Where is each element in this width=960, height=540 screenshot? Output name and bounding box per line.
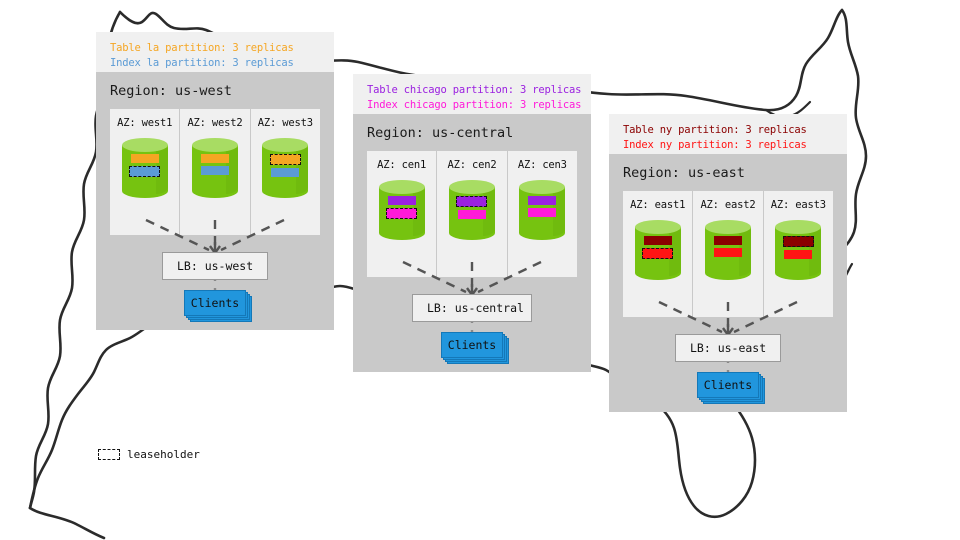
clients-group-us-west[interactable]: Clients <box>184 290 246 316</box>
db-cylinder-cen1[interactable] <box>379 180 425 240</box>
replica-index-leaseholder <box>386 208 417 219</box>
region-box-us-west: Region: us-west AZ: west1 <box>96 72 334 330</box>
az-label-west3: AZ: west3 <box>258 117 313 129</box>
lb-box-us-east[interactable]: LB: us-east <box>675 334 781 362</box>
az-panel-us-west: AZ: west1 AZ: west2 <box>110 109 320 235</box>
partition-line-table: Table la partition: 3 replicas <box>110 41 320 56</box>
replica-table <box>388 196 416 205</box>
cylinder-top <box>449 180 495 194</box>
replica-table-leaseholder <box>456 196 487 207</box>
replica-index <box>271 168 299 177</box>
cylinder-top <box>379 180 425 194</box>
replica-index <box>714 248 742 257</box>
cylinder-top <box>775 220 821 234</box>
partition-line-table: Table ny partition: 3 replicas <box>623 123 833 138</box>
replica-stack-east1 <box>635 236 681 259</box>
replica-index <box>201 166 229 175</box>
replica-stack-cen3 <box>519 196 565 217</box>
cylinder-top <box>122 138 168 152</box>
replica-table-leaseholder <box>270 154 301 165</box>
partition-line-index: Index ny partition: 3 replicas <box>623 138 833 153</box>
replica-table <box>131 154 159 163</box>
clients-stack[interactable]: Clients <box>184 290 246 316</box>
region-title-us-west: Region: us-west <box>96 72 334 109</box>
legend-leaseholder: leaseholder <box>98 448 200 461</box>
region-box-us-east: Region: us-east AZ: east1 <box>609 154 847 412</box>
replica-table <box>528 196 556 205</box>
replica-stack-cen1 <box>379 196 425 219</box>
db-cylinder-east1[interactable] <box>635 220 681 280</box>
replica-table <box>714 236 742 245</box>
az-panel-us-central: AZ: cen1 AZ: cen2 <box>367 151 577 277</box>
cylinder-top <box>192 138 238 152</box>
az-label-cen1: AZ: cen1 <box>377 159 426 171</box>
az-cell-cen2[interactable]: AZ: cen2 <box>437 151 507 277</box>
clients-label[interactable]: Clients <box>697 372 759 398</box>
region-box-us-central: Region: us-central AZ: cen1 <box>353 114 591 372</box>
replica-index <box>458 210 486 219</box>
db-cylinder-west2[interactable] <box>192 138 238 198</box>
db-cylinder-east2[interactable] <box>705 220 751 280</box>
clients-group-us-central[interactable]: Clients <box>441 332 503 358</box>
az-label-west2: AZ: west2 <box>187 117 242 129</box>
replica-stack-east3 <box>775 236 821 259</box>
az-cell-west2[interactable]: AZ: west2 <box>180 109 250 235</box>
region-title-us-east: Region: us-east <box>609 154 847 191</box>
az-label-west1: AZ: west1 <box>117 117 172 129</box>
partition-line-index: Index la partition: 3 replicas <box>110 56 320 71</box>
cylinder-top <box>262 138 308 152</box>
replica-index <box>528 208 556 217</box>
cylinder-top <box>635 220 681 234</box>
clients-label[interactable]: Clients <box>441 332 503 358</box>
db-cylinder-east3[interactable] <box>775 220 821 280</box>
db-cylinder-cen3[interactable] <box>519 180 565 240</box>
replica-table-leaseholder <box>783 236 814 247</box>
clients-stack[interactable]: Clients <box>441 332 503 358</box>
replica-stack-east2 <box>705 236 751 257</box>
az-label-cen3: AZ: cen3 <box>518 159 567 171</box>
clients-group-us-east[interactable]: Clients <box>697 372 759 398</box>
replica-index-leaseholder <box>129 166 160 177</box>
diagram-canvas: Table la partition: 3 replicas Index la … <box>0 0 960 540</box>
replica-stack-west1 <box>122 154 168 177</box>
lb-box-us-west[interactable]: LB: us-west <box>162 252 268 280</box>
partition-line-table: Table chicago partition: 3 replicas <box>367 83 577 98</box>
az-cell-west1[interactable]: AZ: west1 <box>110 109 180 235</box>
region-cluster-us-central: Table chicago partition: 3 replicas Inde… <box>353 74 591 372</box>
clients-stack[interactable]: Clients <box>697 372 759 398</box>
az-label-east3: AZ: east3 <box>771 199 826 211</box>
replica-index-leaseholder <box>642 248 673 259</box>
dashed-rect-swatch-icon <box>98 449 120 460</box>
replica-index <box>784 250 812 259</box>
legend-label: leaseholder <box>127 448 200 461</box>
cylinder-top <box>519 180 565 194</box>
clients-label[interactable]: Clients <box>184 290 246 316</box>
az-label-east1: AZ: east1 <box>630 199 685 211</box>
az-cell-cen1[interactable]: AZ: cen1 <box>367 151 437 277</box>
az-cell-east2[interactable]: AZ: east2 <box>693 191 763 317</box>
replica-stack-cen2 <box>449 196 495 219</box>
db-cylinder-cen2[interactable] <box>449 180 495 240</box>
az-cell-cen3[interactable]: AZ: cen3 <box>508 151 577 277</box>
replica-stack-west3 <box>262 154 308 177</box>
partition-line-index: Index chicago partition: 3 replicas <box>367 98 577 113</box>
db-cylinder-west3[interactable] <box>262 138 308 198</box>
az-panel-us-east: AZ: east1 AZ: east2 <box>623 191 833 317</box>
lb-box-us-central[interactable]: LB: us-central <box>412 294 532 322</box>
az-label-cen2: AZ: cen2 <box>448 159 497 171</box>
az-cell-west3[interactable]: AZ: west3 <box>251 109 320 235</box>
partition-header-us-central: Table chicago partition: 3 replicas Inde… <box>353 74 591 114</box>
az-label-east2: AZ: east2 <box>700 199 755 211</box>
replica-stack-west2 <box>192 154 238 175</box>
region-title-us-central: Region: us-central <box>353 114 591 151</box>
replica-table <box>644 236 672 245</box>
partition-header-us-west: Table la partition: 3 replicas Index la … <box>96 32 334 72</box>
partition-header-us-east: Table ny partition: 3 replicas Index ny … <box>609 114 847 154</box>
region-cluster-us-east: Table ny partition: 3 replicas Index ny … <box>609 114 847 412</box>
az-cell-east3[interactable]: AZ: east3 <box>764 191 833 317</box>
replica-table <box>201 154 229 163</box>
cylinder-top <box>705 220 751 234</box>
az-cell-east1[interactable]: AZ: east1 <box>623 191 693 317</box>
region-cluster-us-west: Table la partition: 3 replicas Index la … <box>96 32 334 330</box>
db-cylinder-west1[interactable] <box>122 138 168 198</box>
